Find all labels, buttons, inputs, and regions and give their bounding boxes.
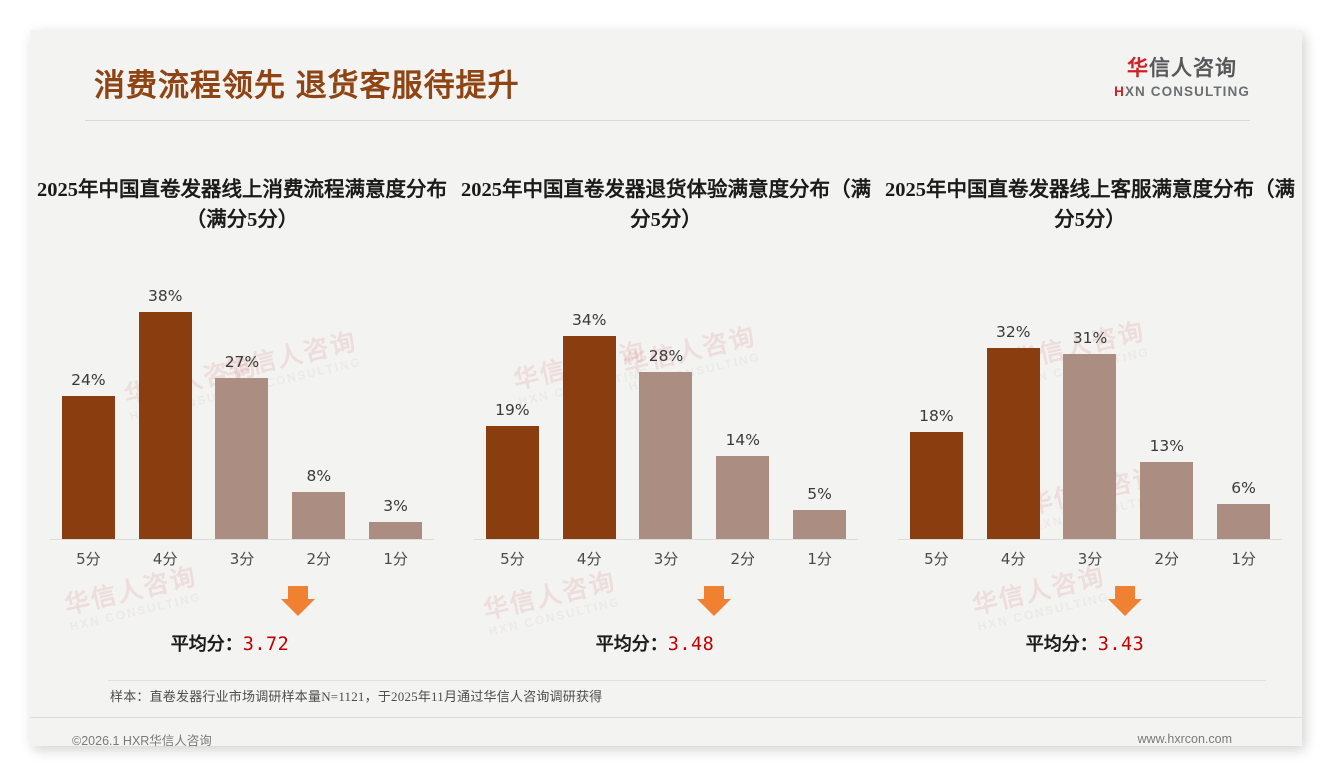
bar[interactable] (62, 396, 115, 540)
bar-slot: 28% (631, 268, 700, 540)
logo-en-rest: XN CONSULTING (1125, 84, 1250, 99)
bar[interactable] (1140, 462, 1193, 540)
x-tick-label: 4分 (979, 548, 1048, 569)
bar-group-2: 19% 34% 28% 14% (474, 268, 858, 540)
plot-area-2: 19% 34% 28% 14% (474, 268, 858, 540)
footnote: 样本：直卷发器行业市场调研样本量N=1121，于2025年11月通过华信人咨询调… (110, 686, 602, 705)
bar-slot: 38% (131, 268, 200, 540)
bar[interactable] (215, 378, 268, 540)
bar-slot: 32% (979, 268, 1048, 540)
down-arrow-icon (1108, 586, 1142, 616)
x-axis-labels-3: 5分 4分 3分 2分 1分 (898, 548, 1282, 569)
bar-group-3: 18% 32% 31% 13% (898, 268, 1282, 540)
bar-value-label: 38% (148, 287, 182, 305)
plot-area-1: 24% 38% 27% 8% (50, 268, 434, 540)
bar-slot: 3% (361, 268, 430, 540)
bar-slot: 18% (902, 268, 971, 540)
bar-value-label: 28% (649, 347, 683, 365)
bar-value-label: 5% (807, 485, 832, 503)
logo-chinese-text: 华信人咨询 (1114, 58, 1250, 79)
plot-area-3: 18% 32% 31% 13% (898, 268, 1282, 540)
logo-english-text: HXN CONSULTING (1114, 85, 1250, 99)
bar[interactable] (987, 348, 1040, 540)
bar-value-label: 24% (71, 371, 105, 389)
x-axis-line (50, 539, 434, 540)
chart-panel-3: 2025年中国直卷发器线上客服满意度分布（满分5分） 华信人咨询 HXN CON… (878, 148, 1302, 668)
down-arrow-container-3 (878, 586, 1302, 616)
bar-value-label: 32% (996, 323, 1030, 341)
bar[interactable] (1063, 354, 1116, 540)
bar-slot: 8% (284, 268, 353, 540)
x-tick-label: 4分 (555, 548, 624, 569)
bar-slot: 6% (1209, 268, 1278, 540)
logo-en-highlight: H (1114, 84, 1125, 99)
down-arrow-icon (697, 586, 731, 616)
chart-panel-1: 2025年中国直卷发器线上消费流程满意度分布（满分5分） 华信人咨询 HXN C… (30, 148, 454, 668)
bar-slot: 5% (785, 268, 854, 540)
average-score-1: 平均分：3.72 (30, 630, 454, 656)
x-axis-labels-2: 5分 4分 3分 2分 1分 (474, 548, 858, 569)
x-tick-label: 5分 (902, 548, 971, 569)
chart-title-3: 2025年中国直卷发器线上客服满意度分布（满分5分） (884, 176, 1296, 235)
x-tick-label: 2分 (284, 548, 353, 569)
website-url[interactable]: www.hxrcon.com (1138, 732, 1232, 746)
down-arrow-icon (281, 586, 315, 616)
bar[interactable] (486, 426, 539, 540)
bar-value-label: 3% (383, 497, 408, 515)
logo-cn-rest: 信人咨询 (1149, 57, 1237, 80)
bar-value-label: 27% (225, 353, 259, 371)
charts-container: 2025年中国直卷发器线上消费流程满意度分布（满分5分） 华信人咨询 HXN C… (30, 148, 1302, 668)
average-label: 平均分： (1026, 634, 1098, 654)
average-label: 平均分： (171, 634, 243, 654)
average-value: 3.72 (243, 634, 290, 655)
x-tick-label: 3分 (207, 548, 276, 569)
x-tick-label: 2分 (708, 548, 777, 569)
bar[interactable] (1217, 504, 1270, 540)
chart-title-2: 2025年中国直卷发器退货体验满意度分布（满分5分） (460, 176, 872, 235)
bar-slot: 14% (708, 268, 777, 540)
bar[interactable] (369, 522, 422, 540)
bar-slot: 19% (478, 268, 547, 540)
slide-footer: ©2026.1 HXR华信人咨询 www.hxrcon.com (30, 724, 1302, 754)
x-axis-line (898, 539, 1282, 540)
average-label: 平均分： (596, 634, 668, 654)
company-logo: 华信人咨询 HXN CONSULTING (1114, 58, 1250, 99)
bar-slot: 27% (207, 268, 276, 540)
x-axis-line (474, 539, 858, 540)
bar-group-1: 24% 38% 27% 8% (50, 268, 434, 540)
bar-value-label: 8% (306, 467, 331, 485)
average-score-3: 平均分：3.43 (878, 630, 1302, 656)
bar-value-label: 34% (572, 311, 606, 329)
x-tick-label: 3分 (1055, 548, 1124, 569)
x-tick-label: 1分 (1209, 548, 1278, 569)
bar-value-label: 18% (919, 407, 953, 425)
bar-value-label: 14% (726, 431, 760, 449)
x-tick-label: 5分 (54, 548, 123, 569)
bar-slot: 34% (555, 268, 624, 540)
header-divider (85, 120, 1250, 121)
bar-slot: 13% (1132, 268, 1201, 540)
x-tick-label: 2分 (1132, 548, 1201, 569)
x-axis-labels-1: 5分 4分 3分 2分 1分 (50, 548, 434, 569)
footer-divider (30, 717, 1302, 718)
down-arrow-container-1 (30, 586, 454, 616)
page-title: 消费流程领先 退货客服待提升 (94, 60, 520, 105)
chart-title-1: 2025年中国直卷发器线上消费流程满意度分布（满分5分） (36, 176, 448, 235)
bar-slot: 31% (1055, 268, 1124, 540)
x-tick-label: 1分 (785, 548, 854, 569)
copyright-text: ©2026.1 HXR华信人咨询 (72, 730, 212, 749)
bar-slot: 24% (54, 268, 123, 540)
average-score-2: 平均分：3.48 (454, 630, 878, 656)
x-tick-label: 1分 (361, 548, 430, 569)
bar[interactable] (910, 432, 963, 540)
slide-card: 消费流程领先 退货客服待提升 华信人咨询 HXN CONSULTING 2025… (30, 30, 1302, 746)
bar[interactable] (292, 492, 345, 540)
bar[interactable] (716, 456, 769, 540)
chart-panel-2: 2025年中国直卷发器退货体验满意度分布（满分5分） 华信人咨询 HXN CON… (454, 148, 878, 668)
bar[interactable] (639, 372, 692, 540)
x-tick-label: 4分 (131, 548, 200, 569)
footnote-divider (108, 680, 1266, 681)
logo-cn-highlight: 华 (1127, 57, 1149, 80)
bar[interactable] (139, 312, 192, 540)
x-tick-label: 3分 (631, 548, 700, 569)
average-value: 3.48 (668, 634, 715, 655)
slide-header: 消费流程领先 退货客服待提升 华信人咨询 HXN CONSULTING (30, 30, 1302, 122)
bar[interactable] (563, 336, 616, 540)
bar[interactable] (793, 510, 846, 540)
average-value: 3.43 (1098, 634, 1145, 655)
x-tick-label: 5分 (478, 548, 547, 569)
down-arrow-container-2 (454, 586, 878, 616)
bar-value-label: 19% (495, 401, 529, 419)
bar-value-label: 13% (1150, 437, 1184, 455)
bar-value-label: 6% (1231, 479, 1256, 497)
bar-value-label: 31% (1073, 329, 1107, 347)
